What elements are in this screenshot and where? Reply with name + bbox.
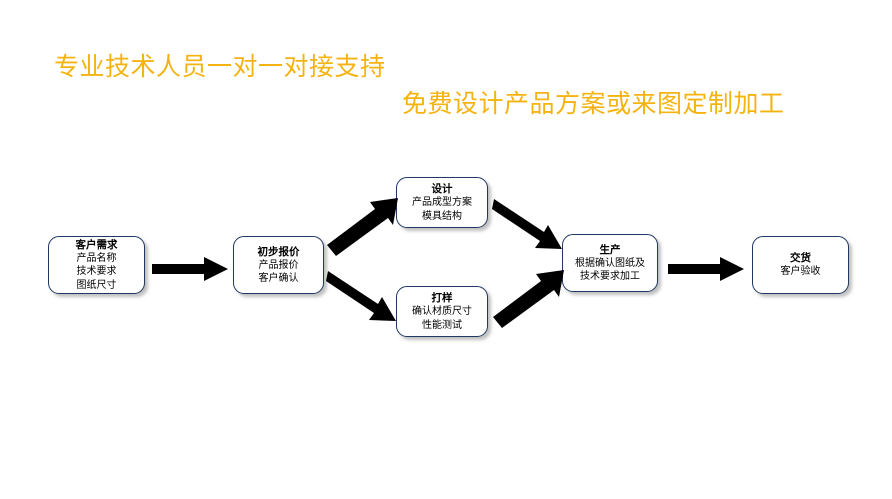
flow-node-title: 设计 bbox=[432, 182, 453, 196]
flow-node-detail: 产品报价 bbox=[259, 259, 299, 273]
arrow-up-right-icon-sample-to-production bbox=[492, 268, 568, 328]
flow-node-quote[interactable]: 初步报价 产品报价 客户确认 bbox=[233, 236, 324, 294]
flow-node-title: 初步报价 bbox=[258, 245, 300, 259]
headline-primary: 专业技术人员一对一对接支持 bbox=[54, 52, 386, 82]
flow-node-delivery[interactable]: 交货 客户验收 bbox=[752, 236, 849, 294]
flow-node-sample[interactable]: 打样 确认材质尺寸 性能测试 bbox=[396, 286, 488, 337]
flow-node-title: 打样 bbox=[432, 291, 453, 305]
arrow-down-right-icon-design-to-production bbox=[492, 196, 568, 256]
slide-canvas: 专业技术人员一对一对接支持 免费设计产品方案或来图定制加工 客户需求 产品名称 … bbox=[0, 0, 892, 499]
arrow-up-right-icon-quote-to-design bbox=[326, 196, 402, 256]
headline-secondary: 免费设计产品方案或来图定制加工 bbox=[402, 89, 785, 119]
flow-node-title: 客户需求 bbox=[76, 238, 118, 252]
flow-node-design[interactable]: 设计 产品成型方案 模具结构 bbox=[396, 177, 488, 228]
flow-node-title: 生产 bbox=[600, 243, 621, 257]
flow-node-production[interactable]: 生产 根据确认图纸及 技术要求加工 bbox=[562, 234, 658, 292]
flow-node-detail: 客户确认 bbox=[259, 272, 299, 286]
flow-node-detail: 技术要求 bbox=[77, 265, 117, 279]
flow-node-detail: 产品成型方案 bbox=[412, 196, 472, 210]
flow-node-title: 交货 bbox=[790, 251, 811, 265]
flow-node-detail: 确认材质尺寸 bbox=[412, 305, 472, 319]
flow-node-detail: 技术要求加工 bbox=[580, 270, 640, 284]
arrow-down-right-icon-quote-to-sample bbox=[326, 268, 402, 328]
flow-node-detail: 模具结构 bbox=[422, 210, 462, 224]
flow-node-detail: 根据确认图纸及 bbox=[575, 257, 645, 271]
flow-node-detail: 客户验收 bbox=[781, 265, 821, 279]
flow-node-demand[interactable]: 客户需求 产品名称 技术要求 图纸尺寸 bbox=[48, 236, 145, 294]
arrow-right-icon-production-to-delivery bbox=[668, 255, 746, 283]
flow-node-detail: 产品名称 bbox=[77, 252, 117, 266]
flow-node-detail: 图纸尺寸 bbox=[77, 279, 117, 293]
flow-node-detail: 性能测试 bbox=[422, 319, 462, 333]
arrow-right-icon-demand-to-quote bbox=[152, 255, 230, 283]
